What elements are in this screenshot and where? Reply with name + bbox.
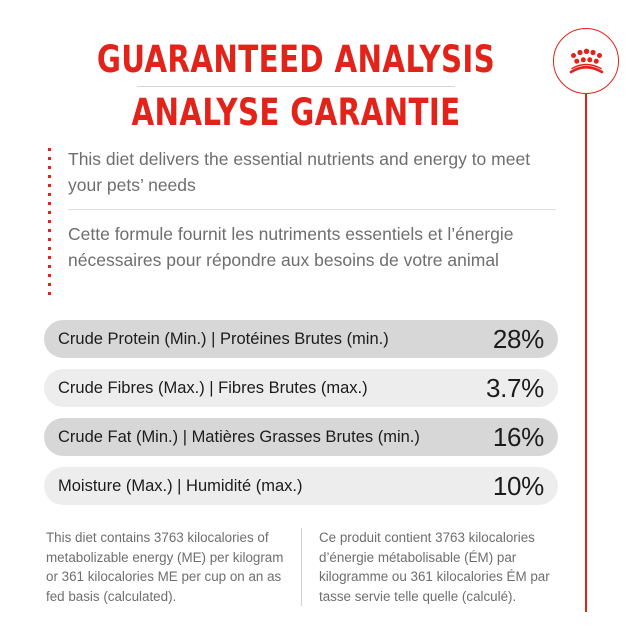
analysis-row-value: 10% xyxy=(493,471,544,502)
analysis-row-label: Moisture (Max.) | Humidité (max.) xyxy=(58,477,303,496)
analysis-row-label: Crude Fat (Min.) | Matières Grasses Brut… xyxy=(58,428,420,447)
analysis-row-value: 28% xyxy=(493,324,544,355)
analysis-row-value: 16% xyxy=(493,422,544,453)
analysis-rows: Crude Protein (Min.) | Protéines Brutes … xyxy=(44,320,558,516)
analysis-row-crude-protein: Crude Protein (Min.) | Protéines Brutes … xyxy=(44,320,558,358)
intro-texts: This diet delivers the essential nutrien… xyxy=(68,146,558,273)
footer-text-french: Ce produit contient 3763 kilocalories d’… xyxy=(302,528,558,606)
analysis-row-value: 3.7% xyxy=(486,373,544,404)
intro-paragraph-english: This diet delivers the essential nutrien… xyxy=(68,146,558,198)
crown-icon xyxy=(566,47,606,75)
page-title-english: GUARANTEED ANALYSIS xyxy=(88,38,503,82)
intro-block: This diet delivers the essential nutrien… xyxy=(48,146,558,273)
intro-paragraph-french: Cette formule fournit les nutriments ess… xyxy=(68,221,558,273)
analysis-row-label: Crude Fibres (Max.) | Fibres Brutes (max… xyxy=(58,379,368,398)
footer-text-english: This diet contains 3763 kilocalories of … xyxy=(46,528,301,606)
analysis-row-label: Crude Protein (Min.) | Protéines Brutes … xyxy=(58,330,389,349)
page-title-french: ANALYSE GARANTIE xyxy=(88,91,503,135)
analysis-row-crude-fat: Crude Fat (Min.) | Matières Grasses Brut… xyxy=(44,418,558,456)
footer-block: This diet contains 3763 kilocalories of … xyxy=(46,528,558,606)
analysis-row-moisture: Moisture (Max.) | Humidité (max.) 10% xyxy=(44,467,558,505)
intro-divider xyxy=(68,209,556,210)
brand-logo xyxy=(553,28,621,96)
guaranteed-analysis-panel: GUARANTEED ANALYSIS ANALYSE GARANTIE Thi… xyxy=(0,0,640,640)
page-title: GUARANTEED ANALYSIS ANALYSE GARANTIE xyxy=(60,38,532,135)
dotted-rail-decoration xyxy=(48,148,51,296)
accent-vertical-line xyxy=(585,94,587,612)
title-divider xyxy=(137,86,455,87)
analysis-row-crude-fibres: Crude Fibres (Max.) | Fibres Brutes (max… xyxy=(44,369,558,407)
